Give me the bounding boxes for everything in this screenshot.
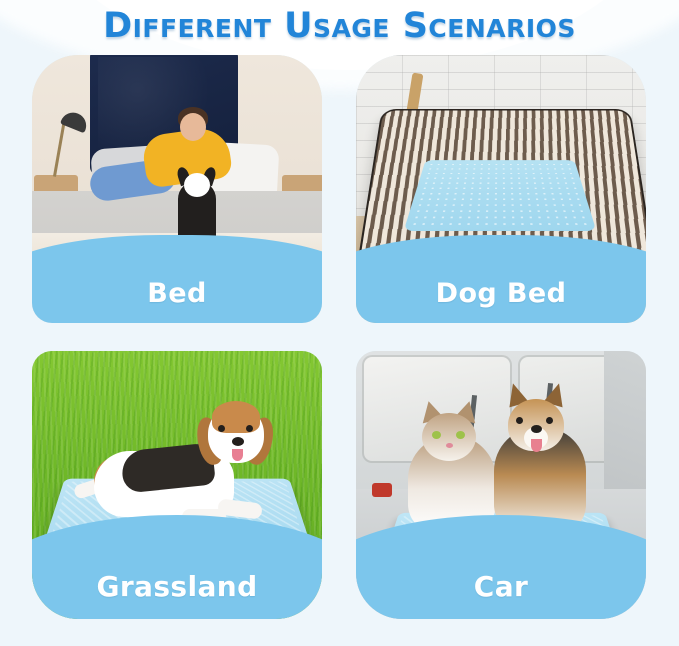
caption-band-car: [356, 515, 646, 619]
cat-nose: [446, 443, 453, 448]
cat-head: [422, 413, 476, 461]
sheltie-eye-left: [516, 417, 523, 424]
page-title: Different Usage Scenarios: [0, 3, 679, 51]
sheltie-nose: [531, 425, 542, 433]
beagle-nose: [232, 437, 244, 446]
sheltie-eye-right: [546, 417, 553, 424]
cooling-mat-dog-bed: [404, 160, 597, 231]
scenario-card-dog-bed[interactable]: Dog Bed: [356, 55, 646, 323]
sheltie-tongue: [531, 439, 542, 452]
caption-label-bed: Bed: [32, 278, 322, 309]
beagle-eye-left: [218, 425, 225, 432]
scenario-card-bed[interactable]: Bed: [32, 55, 322, 323]
beagle-eye-right: [246, 425, 253, 432]
caption-label-dog-bed: Dog Bed: [356, 278, 646, 309]
beagle-tongue: [232, 449, 243, 461]
seatbelt-latch-red: [372, 483, 392, 497]
cat-eye-right: [456, 431, 465, 439]
scenario-card-car[interactable]: Car: [356, 351, 646, 619]
cat-eye-left: [432, 431, 441, 439]
scenario-grid: Bed Dog Bed: [32, 55, 646, 623]
scenario-card-grassland[interactable]: Grassland: [32, 351, 322, 619]
dog-boston-terrier-face: [184, 173, 210, 197]
woman-head: [180, 113, 206, 141]
caption-label-grassland: Grassland: [32, 570, 322, 603]
caption-band-grassland: [32, 515, 322, 619]
caption-label-car: Car: [356, 570, 646, 603]
